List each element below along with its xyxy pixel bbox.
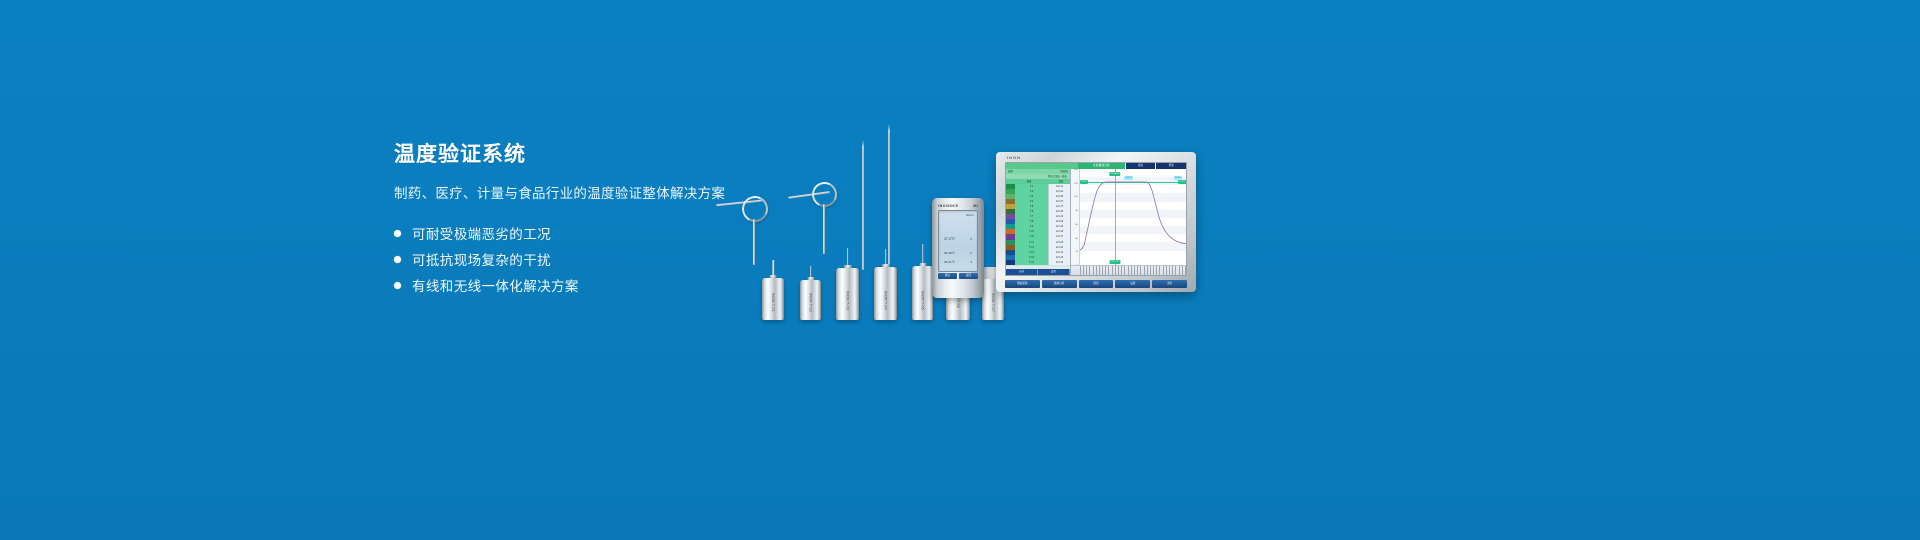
- logger-label: INON T-05: [921, 291, 925, 310]
- chart-curve: [1080, 169, 1186, 265]
- feature-text: 可抵抗现场复杂的干扰: [412, 249, 551, 269]
- monitor-button-exit[interactable]: 退出: [1152, 280, 1187, 288]
- monitor-button-acquire[interactable]: 数据采集: [1005, 280, 1040, 288]
- software-body: 通道 温度值 测试点温度一览表 通道 温度 T-1121.11T-2121.24…: [1006, 169, 1186, 275]
- monitor-screen: 水浴曲线分析 报表 帮助 通道 温度值 测试点温度一览表 通道: [1005, 162, 1187, 276]
- table-settings-button[interactable]: 设置: [1038, 269, 1070, 275]
- data-logger: INON T-04: [874, 248, 897, 320]
- y-tick-label: 140: [1074, 169, 1078, 171]
- handheld-confirm-button[interactable]: 确认: [938, 273, 957, 279]
- y-tick-label: 100: [1074, 196, 1078, 198]
- lcd-menu-label: MENU: [966, 213, 974, 217]
- product-photo-group: INON T-01 INON T-02 INON T-03 INON T-04 …: [700, 120, 1240, 320]
- monitor-button-bar: 数据采集 曲线分析 报表 设置 退出: [1005, 280, 1187, 288]
- handheld-brand: INONSKE: [938, 204, 959, 208]
- y-tick-label: 40: [1075, 238, 1077, 240]
- y-tick-label: 20: [1075, 251, 1077, 253]
- y-tick-label: 120: [1074, 183, 1078, 185]
- lcd-reading-value: 2: [970, 251, 972, 255]
- lcd-reading-value: 1: [970, 237, 972, 241]
- logger-label: INON T-01: [771, 293, 775, 312]
- handheld-brand-row: INONSKE M1: [935, 201, 981, 209]
- data-logger: INON T-03: [836, 248, 859, 320]
- table-footer: 启动 设置: [1006, 269, 1070, 275]
- validation-monitor[interactable]: INON 水浴曲线分析 报表 帮助 通道 温度值: [996, 152, 1196, 292]
- lcd-reading-label: 37.2℃: [944, 237, 955, 241]
- channel-value: 121.33: [1048, 260, 1070, 265]
- lcd-reading-row: 36.61℃ 3: [939, 260, 977, 264]
- feature-text: 可耐受极端恶劣的工况: [412, 223, 551, 243]
- bullet-dot-icon: [394, 230, 401, 237]
- logger-label: INON T-02: [809, 293, 813, 312]
- data-logger: INON T-05: [912, 246, 933, 320]
- data-logger: INON T-01: [762, 260, 784, 320]
- feature-text: 有线和无线一体化解决方案: [412, 275, 579, 295]
- lcd-reading-row: 37.2℃ 1: [939, 237, 977, 241]
- lcd-reading-label: 36.08℃: [944, 251, 955, 255]
- temperature-chart[interactable]: 140120100806040200 121.0 121.0: [1071, 169, 1186, 275]
- coiled-wire-probe: [788, 182, 848, 242]
- lcd-reading-label: 36.61℃: [944, 260, 955, 264]
- handheld-button-row: 确认 返回: [935, 273, 981, 280]
- chart-plot: 121.0 121.0 00:48:00 121.2℃ 121.0 121.0: [1080, 169, 1186, 265]
- channel-color-swatch: [1006, 260, 1015, 265]
- logger-label: INON T-07: [991, 293, 995, 312]
- lcd-reading-row: 36.08℃ 2: [939, 251, 977, 255]
- channel-table[interactable]: 通道 温度值 测试点温度一览表 通道 温度 T-1121.11T-2121.24…: [1006, 169, 1071, 275]
- handheld-back-button[interactable]: 返回: [959, 273, 978, 279]
- table-body: T-1121.11T-2121.24T-3121.08T-4121.31T-51…: [1006, 184, 1070, 269]
- monitor-brand: INON: [1007, 155, 1021, 160]
- handheld-reader[interactable]: INONSKE M1 MENU 37.2℃ 1 36.08℃ 2 36.61℃ …: [932, 198, 984, 298]
- chart-y-axis: 140120100806040200: [1071, 169, 1080, 265]
- monitor-button-analysis[interactable]: 曲线分析: [1042, 280, 1077, 288]
- monitor-button-settings[interactable]: 设置: [1115, 280, 1150, 288]
- y-tick-label: 80: [1075, 210, 1077, 212]
- table-start-button[interactable]: 启动: [1006, 269, 1038, 275]
- handheld-model: M1: [973, 204, 978, 208]
- bullet-dot-icon: [394, 256, 401, 263]
- logger-label: INON T-04: [884, 291, 888, 310]
- chart-plot-area: 140120100806040200 121.0 121.0: [1071, 169, 1186, 265]
- monitor-button-report[interactable]: 报表: [1079, 280, 1114, 288]
- coiled-wire-probe: [716, 195, 776, 245]
- needle-probe: [860, 140, 866, 270]
- data-logger: INON T-02: [800, 264, 821, 320]
- channel-name: T-16: [1015, 260, 1048, 265]
- chart-x-axis: [1071, 265, 1186, 275]
- handheld-lcd-screen: MENU 37.2℃ 1 36.08℃ 2 36.61℃ 3: [938, 210, 978, 272]
- lcd-reading-value: 3: [970, 260, 972, 264]
- hero-banner: 温度验证系统 制药、医疗、计量与食品行业的温度验证整体解决方案 可耐受极端恶劣的…: [0, 0, 1920, 540]
- logger-label: INON T-03: [846, 291, 850, 310]
- table-row[interactable]: T-16121.33: [1006, 260, 1070, 265]
- y-tick-label: 60: [1075, 224, 1077, 226]
- bullet-dot-icon: [394, 282, 401, 289]
